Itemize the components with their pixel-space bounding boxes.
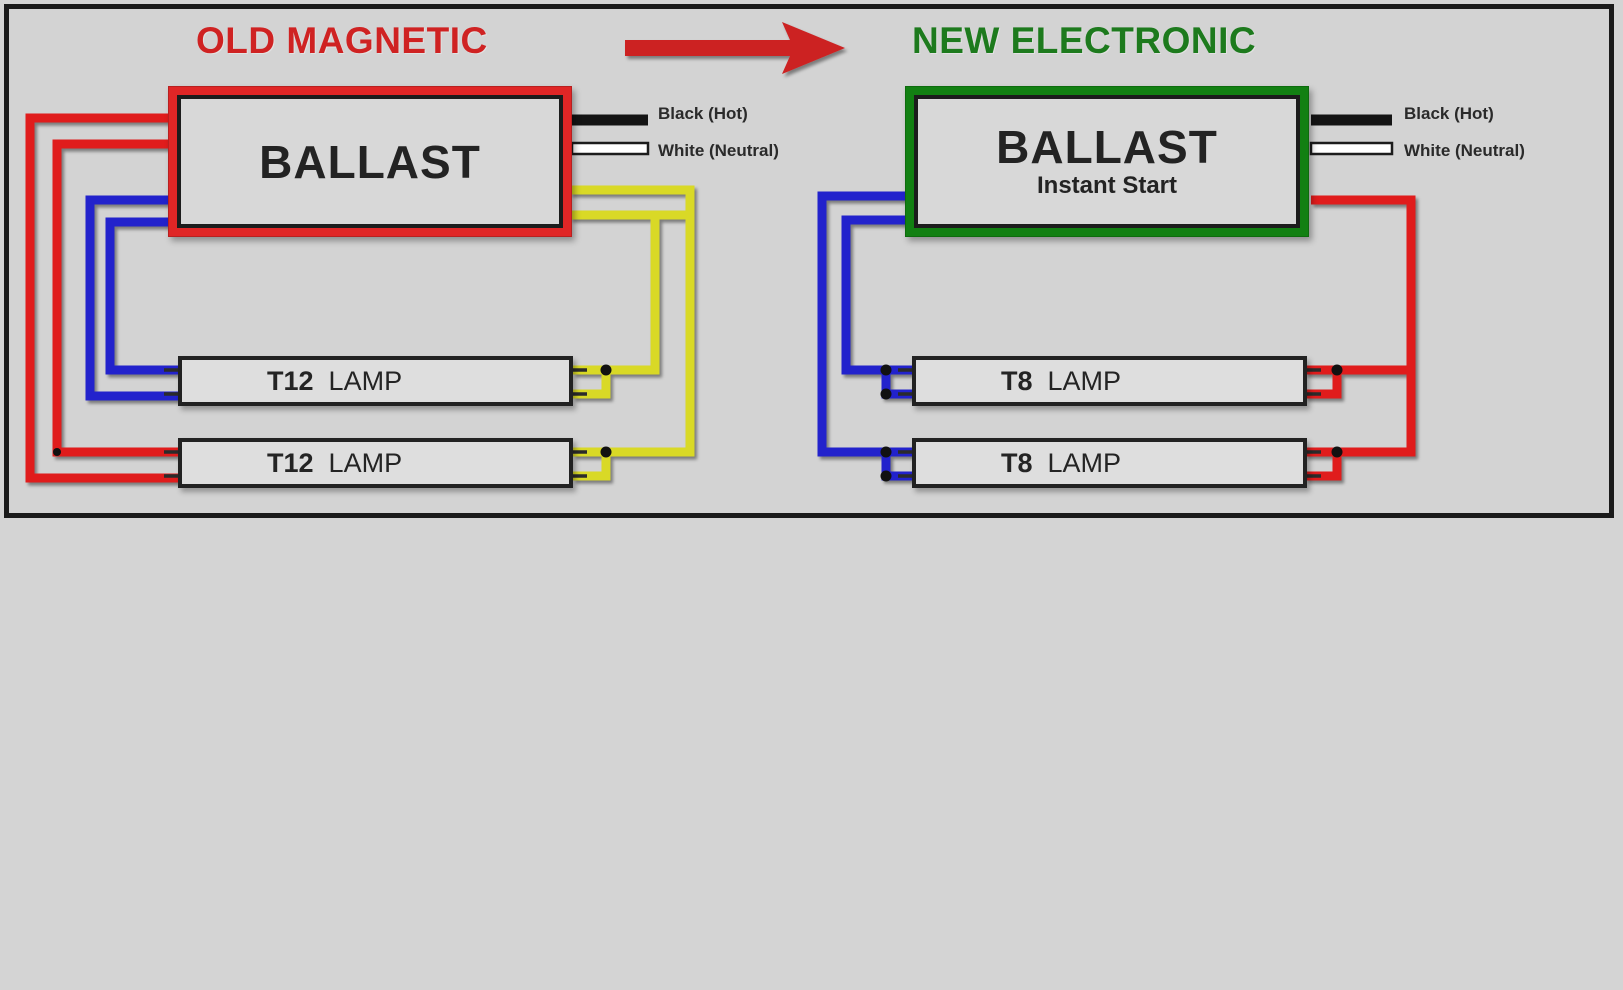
- lamp-type-t8-bottom: T8: [1001, 448, 1033, 478]
- ballast-box-electronic[interactable]: BALLAST Instant Start: [905, 86, 1309, 237]
- ballast-inner-magnetic: BALLAST: [177, 95, 563, 228]
- ballast-title-electronic: BALLAST: [996, 124, 1218, 170]
- lamp-word-t8-top: LAMP: [1048, 366, 1122, 396]
- lamp-word-t12-bottom: LAMP: [329, 448, 403, 478]
- ballast-box-magnetic[interactable]: BALLAST: [168, 86, 572, 237]
- panel-title-old-magnetic: OLD MAGNETIC: [196, 20, 488, 62]
- lamp-label-t8-bottom: T8 LAMP: [1001, 448, 1121, 479]
- ballast-title-magnetic: BALLAST: [259, 139, 481, 185]
- wire-label-black-hot-new: Black (Hot): [1404, 104, 1494, 124]
- lamp-type-t12-top: T12: [267, 366, 314, 396]
- lamp-box-t8-top[interactable]: T8 LAMP: [912, 356, 1307, 406]
- lamp-label-t12-top: T12 LAMP: [267, 366, 402, 397]
- lamp-box-t12-bottom[interactable]: T12 LAMP: [178, 438, 573, 488]
- lamp-type-t12-bottom: T12: [267, 448, 314, 478]
- lamp-label-t12-bottom: T12 LAMP: [267, 448, 402, 479]
- lamp-type-t8-top: T8: [1001, 366, 1033, 396]
- ballast-inner-electronic: BALLAST Instant Start: [914, 95, 1300, 228]
- lamp-word-t8-bottom: LAMP: [1048, 448, 1122, 478]
- lamp-label-t8-top: T8 LAMP: [1001, 366, 1121, 397]
- wire-label-white-neutral-new: White (Neutral): [1404, 141, 1525, 161]
- wire-label-white-neutral-old: White (Neutral): [658, 141, 779, 161]
- diagram-canvas: OLD MAGNETIC NEW ELECTRONIC BALLAST BALL…: [0, 0, 1623, 990]
- panel-title-new-electronic: NEW ELECTRONIC: [912, 20, 1256, 62]
- lamp-box-t12-top[interactable]: T12 LAMP: [178, 356, 573, 406]
- wire-label-black-hot-old: Black (Hot): [658, 104, 748, 124]
- lamp-word-t12-top: LAMP: [329, 366, 403, 396]
- ballast-subtitle-instant-start: Instant Start: [1037, 174, 1177, 198]
- lamp-box-t8-bottom[interactable]: T8 LAMP: [912, 438, 1307, 488]
